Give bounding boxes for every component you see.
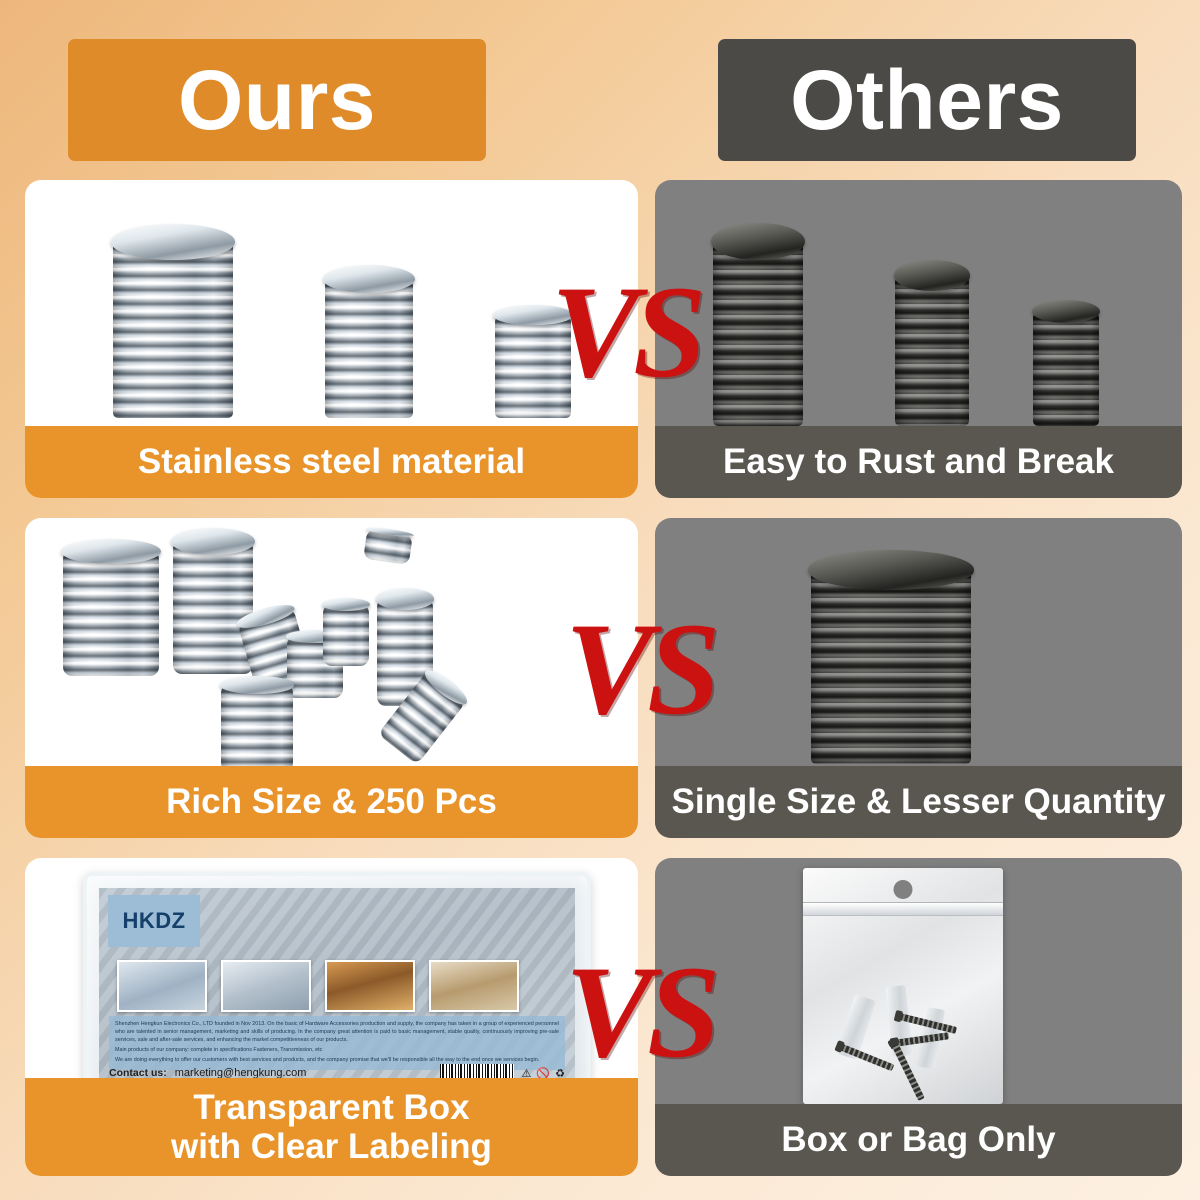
- bag-hang-hole: [894, 880, 913, 899]
- transparent-assortment-box: HKDZ Shenzhen Hengkun Electronics Co., L…: [83, 872, 591, 1102]
- screw-icon: [221, 684, 293, 772]
- poly-bag: [803, 868, 1003, 1104]
- others-panel-quantity: Single Size & Lesser Quantity: [655, 518, 1182, 838]
- comparison-infographic: Ours Others Stainless steel material: [0, 0, 1200, 1200]
- rusted-screw-large-icon: [713, 240, 803, 426]
- storage-racks-photo: [429, 960, 519, 1012]
- warehouse-aisle-photo: [325, 960, 415, 1012]
- company-paragraph: Main products of our company: complete i…: [115, 1046, 559, 1054]
- vs-divider-2: VS: [565, 592, 714, 745]
- screw-icon: [173, 540, 253, 674]
- others-header-badge: Others: [718, 39, 1136, 161]
- caption-text: Transparent Box with Clear Labeling: [171, 1088, 492, 1166]
- caption-text: Rich Size & 250 Pcs: [166, 782, 497, 821]
- ours-caption-quantity: Rich Size & 250 Pcs: [25, 766, 638, 838]
- ours-header-label: Ours: [178, 52, 376, 149]
- ours-caption-material: Stainless steel material: [25, 426, 638, 498]
- others-header-label: Others: [790, 52, 1064, 149]
- caption-text: Stainless steel material: [138, 442, 525, 481]
- screw-icon: [840, 1044, 895, 1071]
- screw-icon: [323, 604, 369, 666]
- hkdz-logo: HKDZ: [108, 895, 200, 947]
- screw-medium-icon: [325, 278, 413, 418]
- others-caption-material: Easy to Rust and Break: [655, 426, 1182, 498]
- label-photo-strip: [117, 960, 519, 1012]
- vs-divider-3: VS: [565, 935, 714, 1088]
- others-panel-packaging: Box or Bag Only: [655, 858, 1182, 1176]
- company-paragraph: Shenzhen Hengkun Electronics Co., LTD fo…: [115, 1020, 559, 1045]
- factory-exterior-photo: [221, 960, 311, 1012]
- vs-divider-1: VS: [551, 255, 700, 408]
- screw-icon: [63, 550, 159, 676]
- caption-text: Single Size & Lesser Quantity: [671, 782, 1165, 821]
- box-printed-label: HKDZ Shenzhen Hengkun Electronics Co., L…: [99, 888, 575, 1088]
- rusted-screw-small-icon: [1033, 310, 1099, 426]
- ours-caption-packaging: Transparent Box with Clear Labeling: [25, 1078, 638, 1176]
- others-caption-packaging: Box or Bag Only: [655, 1104, 1182, 1176]
- others-panel-material: Easy to Rust and Break: [655, 180, 1182, 498]
- screw-large-icon: [113, 240, 233, 418]
- office-building-photo: [117, 960, 207, 1012]
- caption-line-2: with Clear Labeling: [171, 1127, 492, 1166]
- ours-header-badge: Ours: [68, 39, 486, 161]
- caption-text: Easy to Rust and Break: [723, 442, 1114, 481]
- rusted-screw-single-icon: [811, 568, 971, 764]
- others-caption-quantity: Single Size & Lesser Quantity: [655, 766, 1182, 838]
- ours-panel-quantity: Rich Size & 250 Pcs: [25, 518, 638, 838]
- caption-line-1: Transparent Box: [193, 1088, 469, 1127]
- screw-tiny-icon: [363, 529, 413, 565]
- rusted-screw-medium-icon: [895, 274, 969, 426]
- caption-text: Box or Bag Only: [781, 1120, 1055, 1159]
- ours-panel-material: Stainless steel material: [25, 180, 638, 498]
- ours-panel-packaging: HKDZ Shenzhen Hengkun Electronics Co., L…: [25, 858, 638, 1176]
